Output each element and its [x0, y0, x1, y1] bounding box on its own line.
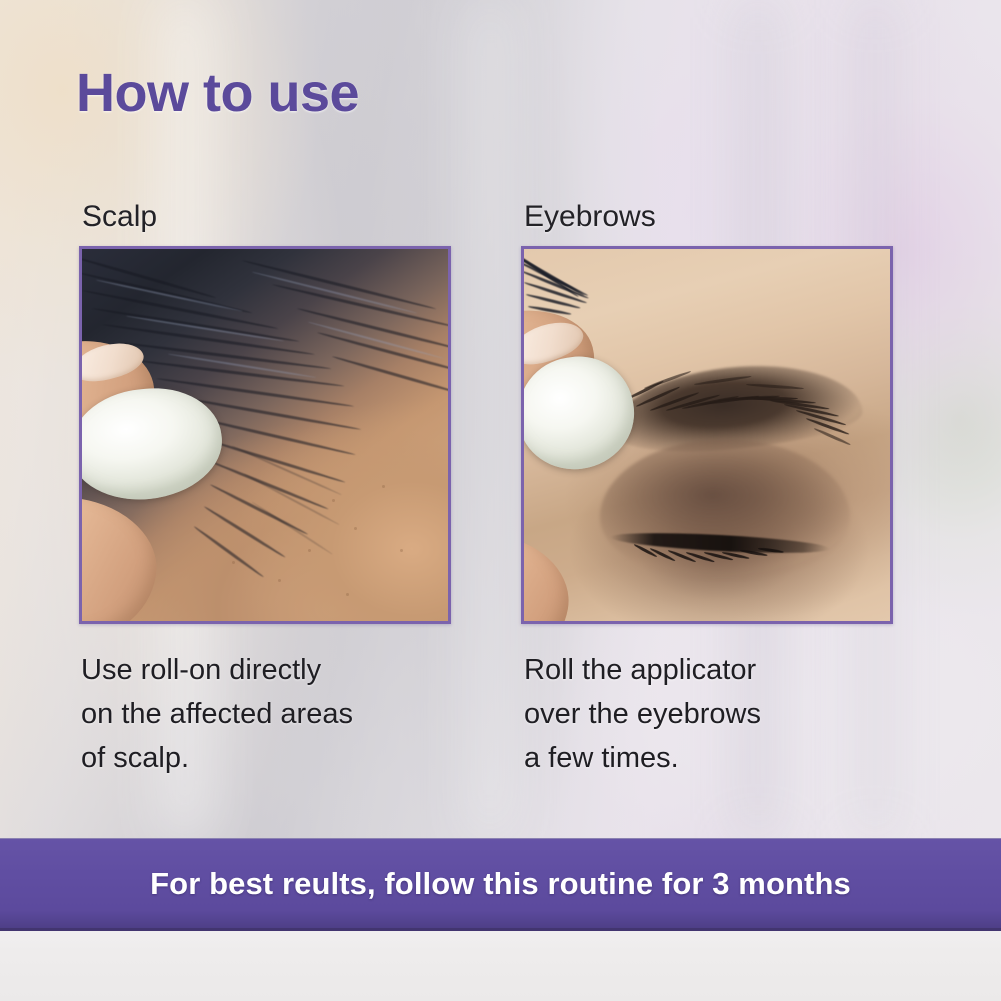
step-caption-scalp: Use roll-on directly on the affected are…: [81, 648, 481, 780]
footer-banner-text: For best reults, follow this routine for…: [150, 866, 851, 902]
step-caption-eyebrows: Roll the applicator over the eyebrows a …: [524, 648, 944, 780]
roll-on-applicator-eyebrows: [524, 349, 641, 476]
step-photo-frame-eyebrows: [521, 246, 893, 624]
step-card-scalp: Scalp: [79, 200, 451, 624]
hand-lower-scalp: [82, 489, 165, 621]
step-label-scalp: Scalp: [82, 200, 451, 234]
hand-lower-eyebrows: [524, 526, 578, 621]
how-to-use-infographic: How to use Scalp: [0, 0, 1001, 1001]
photo-scalp: [82, 249, 448, 621]
page-title: How to use: [76, 63, 359, 123]
step-card-eyebrows: Eyebrows: [521, 200, 893, 624]
step-label-eyebrows: Eyebrows: [524, 200, 893, 234]
photo-eyebrows: [524, 249, 890, 621]
step-photo-frame-scalp: [79, 246, 451, 624]
footer-banner: For best reults, follow this routine for…: [0, 838, 1001, 931]
